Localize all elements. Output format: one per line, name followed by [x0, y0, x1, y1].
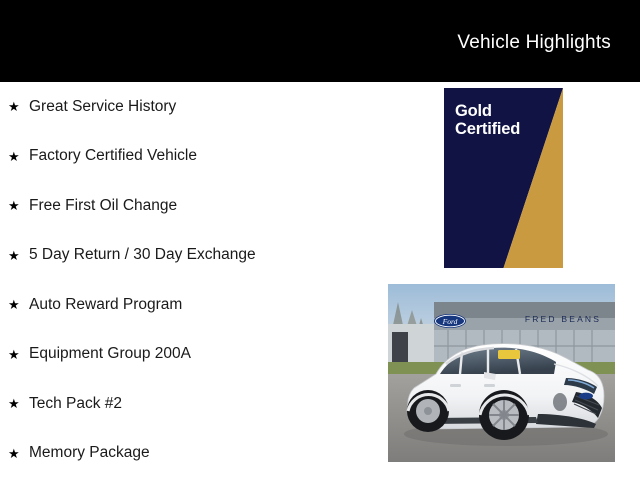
star-icon: ★ [8, 100, 29, 113]
star-icon: ★ [8, 249, 29, 262]
svg-text:Ford: Ford [442, 317, 458, 326]
list-item-label: Great Service History [29, 98, 176, 116]
vehicle-photo-graphic: Ford FRED BEANS [388, 284, 615, 462]
list-item: ★ Auto Reward Program [0, 280, 380, 330]
list-item: ★ Factory Certified Vehicle [0, 132, 380, 182]
list-item-label: 5 Day Return / 30 Day Exchange [29, 246, 256, 264]
list-item: ★ Tech Pack #2 [0, 379, 380, 429]
list-item: ★ 5 Day Return / 30 Day Exchange [0, 231, 380, 281]
star-icon: ★ [8, 397, 29, 410]
badge-line-2: Certified [455, 120, 520, 138]
header-bar: Vehicle Highlights [0, 0, 640, 82]
star-icon: ★ [8, 199, 29, 212]
front-wheel [479, 390, 529, 440]
page-title: Vehicle Highlights [457, 32, 611, 54]
list-item-label: Equipment Group 200A [29, 345, 191, 363]
list-item-label: Tech Pack #2 [29, 395, 122, 413]
list-item-label: Free First Oil Change [29, 197, 177, 215]
list-item-label: Factory Certified Vehicle [29, 147, 197, 165]
list-item-label: Auto Reward Program [29, 296, 182, 314]
star-icon: ★ [8, 447, 29, 460]
badge-text-block: Gold Certified [455, 102, 520, 139]
star-icon: ★ [8, 348, 29, 361]
gold-certified-badge: Gold Certified [444, 88, 563, 268]
list-item: ★ Equipment Group 200A [0, 330, 380, 380]
list-item: ★ Great Service History [0, 82, 380, 132]
vehicle-highlights-list: ★ Great Service History ★ Factory Certif… [0, 82, 380, 478]
ford-emblem-icon: Ford [434, 314, 466, 328]
vehicle-photo: Ford FRED BEANS [388, 284, 615, 462]
star-icon: ★ [8, 150, 29, 163]
dealership-sign-text: FRED BEANS [525, 314, 601, 324]
list-item: ★ Free First Oil Change [0, 181, 380, 231]
rear-wheel [407, 390, 449, 432]
star-icon: ★ [8, 298, 29, 311]
list-item-label: Memory Package [29, 444, 150, 462]
list-item: ★ Memory Package [0, 429, 380, 479]
badge-line-1: Gold [455, 102, 520, 120]
